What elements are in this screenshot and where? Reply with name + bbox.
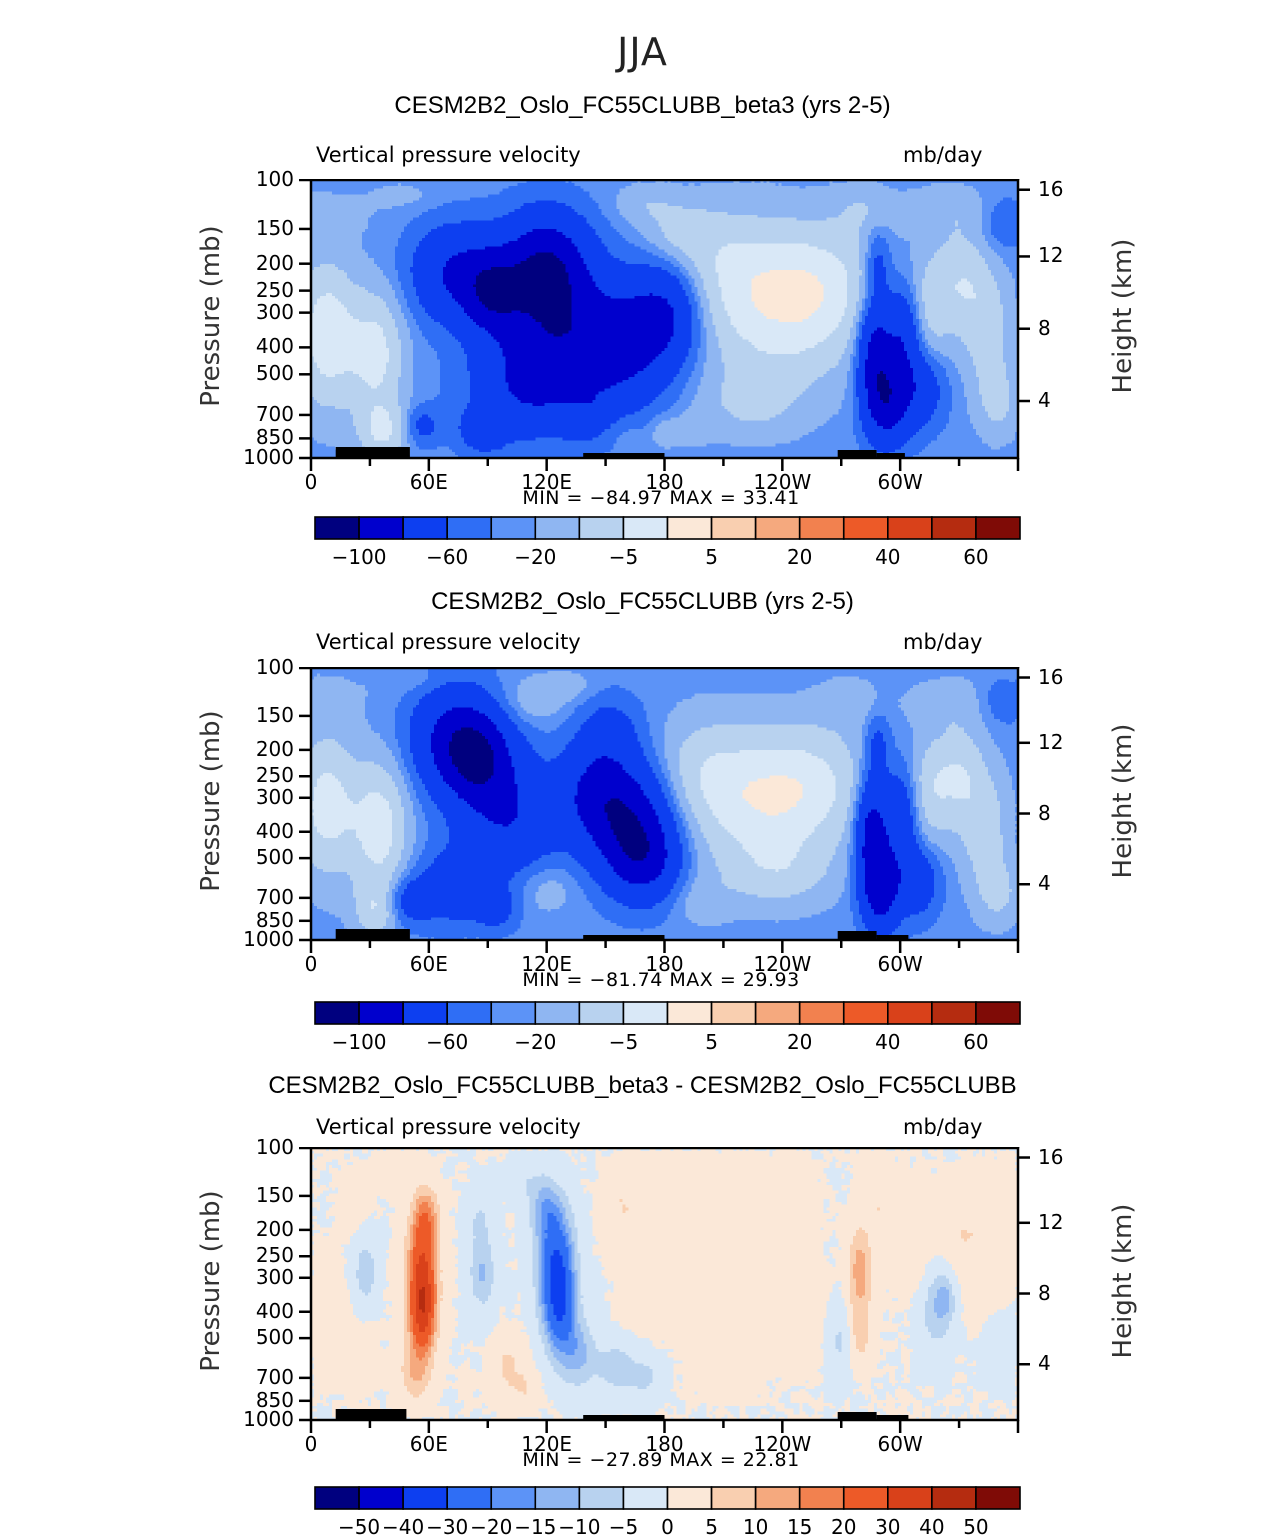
colorbar-tick-label: 20	[755, 1030, 845, 1054]
unit-label: mb/day	[903, 1115, 983, 1139]
height-axis-title: Height (km)	[1108, 166, 1138, 466]
min-max-label: MIN = −27.89 MAX = 22.81	[451, 1449, 871, 1471]
colorbar-tick-label: 60	[931, 1030, 1021, 1054]
colorbar-tick-label: −100	[314, 545, 404, 569]
colorbar-tick-label: 40	[843, 545, 933, 569]
colorbar	[0, 1485, 1285, 1513]
height-tick-label: 4	[1038, 871, 1088, 895]
height-tick-label: 8	[1038, 1281, 1088, 1305]
colorbar-tick-label: −60	[402, 545, 492, 569]
x-tick-label: 0	[261, 1432, 361, 1456]
colorbar	[0, 515, 1285, 543]
contour-plot	[0, 667, 1285, 999]
panel-title: CESM2B2_Oslo_FC55CLUBB_beta3 (yrs 2-5)	[0, 92, 1285, 120]
colorbar-tick-label: −20	[490, 545, 580, 569]
min-max-label: MIN = −84.97 MAX = 33.41	[451, 487, 871, 509]
y-axis-title: Pressure (mb)	[196, 166, 226, 466]
colorbar-tick-label: 50	[931, 1515, 1021, 1539]
season-title: JJA	[0, 30, 1285, 74]
contour-plot	[0, 179, 1285, 517]
panel-title: CESM2B2_Oslo_FC55CLUBB (yrs 2-5)	[0, 588, 1285, 616]
colorbar-tick-label: −60	[402, 1030, 492, 1054]
height-tick-label: 16	[1038, 177, 1088, 201]
y-axis-title: Pressure (mb)	[196, 1131, 226, 1431]
colorbar-tick-label: −100	[314, 1030, 404, 1054]
height-tick-label: 4	[1038, 1351, 1088, 1375]
x-tick-label: 0	[261, 952, 361, 976]
variable-label: Vertical pressure velocity	[316, 143, 581, 167]
panel-title: CESM2B2_Oslo_FC55CLUBB_beta3 - CESM2B2_O…	[0, 1072, 1285, 1100]
unit-label: mb/day	[903, 143, 983, 167]
height-tick-label: 16	[1038, 1145, 1088, 1169]
height-tick-label: 12	[1038, 730, 1088, 754]
colorbar-tick-label: −5	[578, 1030, 668, 1054]
colorbar	[0, 1000, 1285, 1028]
colorbar-tick-label: −20	[490, 1030, 580, 1054]
height-tick-label: 8	[1038, 801, 1088, 825]
y-axis-title: Pressure (mb)	[196, 651, 226, 951]
colorbar-tick-label: 5	[667, 1030, 757, 1054]
variable-label: Vertical pressure velocity	[316, 1115, 581, 1139]
height-tick-label: 16	[1038, 665, 1088, 689]
colorbar-tick-label: 20	[755, 545, 845, 569]
height-tick-label: 12	[1038, 1210, 1088, 1234]
colorbar-tick-label: 5	[667, 545, 757, 569]
height-tick-label: 8	[1038, 316, 1088, 340]
unit-label: mb/day	[903, 630, 983, 654]
colorbar-tick-label: 60	[931, 545, 1021, 569]
variable-label: Vertical pressure velocity	[316, 630, 581, 654]
colorbar-tick-label: 40	[843, 1030, 933, 1054]
height-axis-title: Height (km)	[1108, 1131, 1138, 1431]
min-max-label: MIN = −81.74 MAX = 29.93	[451, 969, 871, 991]
contour-plot	[0, 1147, 1285, 1479]
height-axis-title: Height (km)	[1108, 651, 1138, 951]
height-tick-label: 12	[1038, 243, 1088, 267]
x-tick-label: 0	[261, 470, 361, 494]
height-tick-label: 4	[1038, 388, 1088, 412]
colorbar-tick-label: −5	[578, 545, 668, 569]
